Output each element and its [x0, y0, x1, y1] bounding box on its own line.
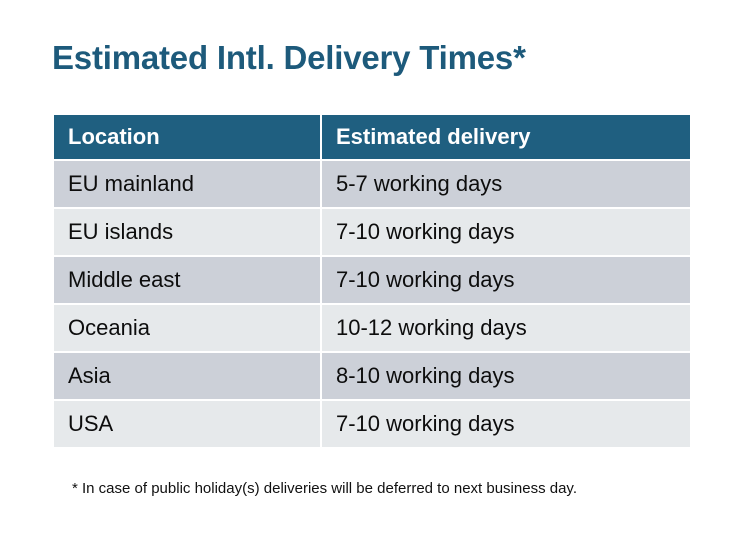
table-row: EU islands 7-10 working days: [54, 209, 690, 255]
table-row: Middle east 7-10 working days: [54, 257, 690, 303]
cell-delivery: 10-12 working days: [322, 305, 690, 351]
cell-delivery: 7-10 working days: [322, 401, 690, 447]
table-row: Oceania 10-12 working days: [54, 305, 690, 351]
footnote: * In case of public holiday(s) deliverie…: [72, 478, 577, 500]
cell-location: USA: [54, 401, 320, 447]
delivery-times-card: Estimated Intl. Delivery Times* Location…: [0, 0, 745, 536]
cell-location: EU mainland: [54, 161, 320, 207]
cell-location: Oceania: [54, 305, 320, 351]
cell-location: Asia: [54, 353, 320, 399]
cell-location: Middle east: [54, 257, 320, 303]
delivery-times-table: Location Estimated delivery EU mainland …: [52, 113, 692, 449]
column-header-location: Location: [54, 115, 320, 159]
cell-delivery: 7-10 working days: [322, 257, 690, 303]
page-title: Estimated Intl. Delivery Times*: [52, 36, 526, 80]
cell-delivery: 7-10 working days: [322, 209, 690, 255]
table-header: Location Estimated delivery: [54, 115, 690, 159]
table-row: Asia 8-10 working days: [54, 353, 690, 399]
table-row: EU mainland 5-7 working days: [54, 161, 690, 207]
table-body: EU mainland 5-7 working days EU islands …: [54, 161, 690, 447]
column-header-estimated-delivery: Estimated delivery: [322, 115, 690, 159]
table-row: USA 7-10 working days: [54, 401, 690, 447]
cell-location: EU islands: [54, 209, 320, 255]
cell-delivery: 5-7 working days: [322, 161, 690, 207]
table-header-row: Location Estimated delivery: [54, 115, 690, 159]
cell-delivery: 8-10 working days: [322, 353, 690, 399]
